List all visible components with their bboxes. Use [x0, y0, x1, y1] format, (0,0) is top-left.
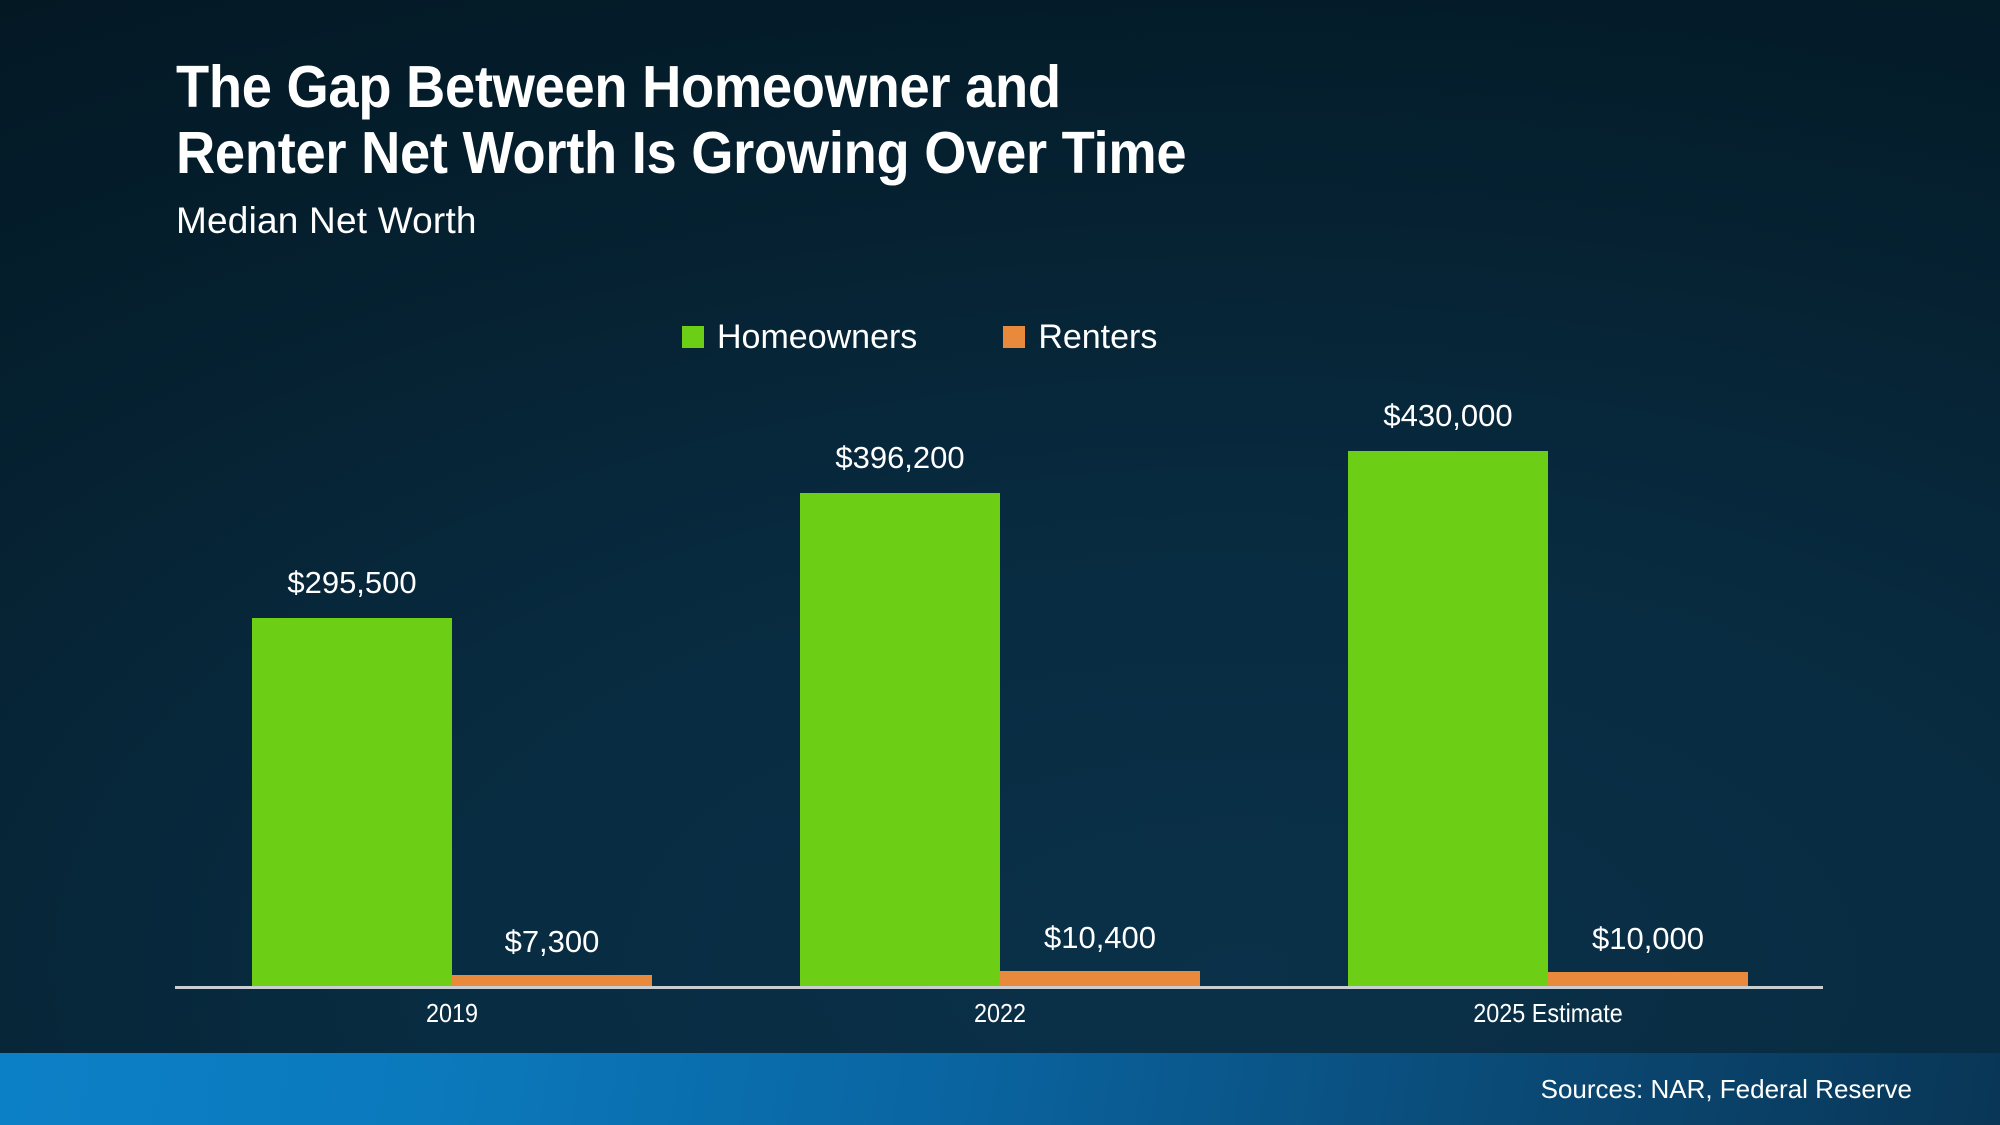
bar-value-label-homeowners-2025: $430,000 — [1348, 400, 1548, 431]
bar-value-label-renters-2022: $10,400 — [1000, 922, 1200, 953]
bar-value-label-homeowners-2019: $295,500 — [252, 567, 452, 598]
slide-canvas: The Gap Between Homeowner and Renter Net… — [0, 0, 2000, 1125]
footer-bar: Sources: NAR, Federal Reserve — [0, 1053, 2000, 1125]
bar-homeowners-2022[interactable] — [800, 493, 1000, 986]
chart-plot-area: $295,500 $7,300 $396,200 $10,400 $430,00… — [0, 0, 2000, 1125]
bar-renters-2019[interactable] — [452, 975, 652, 986]
bar-homeowners-2025[interactable] — [1348, 451, 1548, 986]
x-axis-line — [175, 986, 1823, 989]
bar-value-label-renters-2019: $7,300 — [452, 926, 652, 957]
x-axis-label-2019: 2019 — [362, 1000, 542, 1026]
bar-value-label-renters-2025: $10,000 — [1548, 923, 1748, 954]
bar-value-label-homeowners-2022: $396,200 — [800, 442, 1000, 473]
source-attribution: Sources: NAR, Federal Reserve — [1541, 1076, 1912, 1102]
bar-renters-2025[interactable] — [1548, 972, 1748, 986]
x-axis-label-2025: 2025 Estimate — [1458, 1000, 1638, 1026]
bar-homeowners-2019[interactable] — [252, 618, 452, 986]
x-axis-label-2022: 2022 — [910, 1000, 1090, 1026]
bar-renters-2022[interactable] — [1000, 971, 1200, 986]
